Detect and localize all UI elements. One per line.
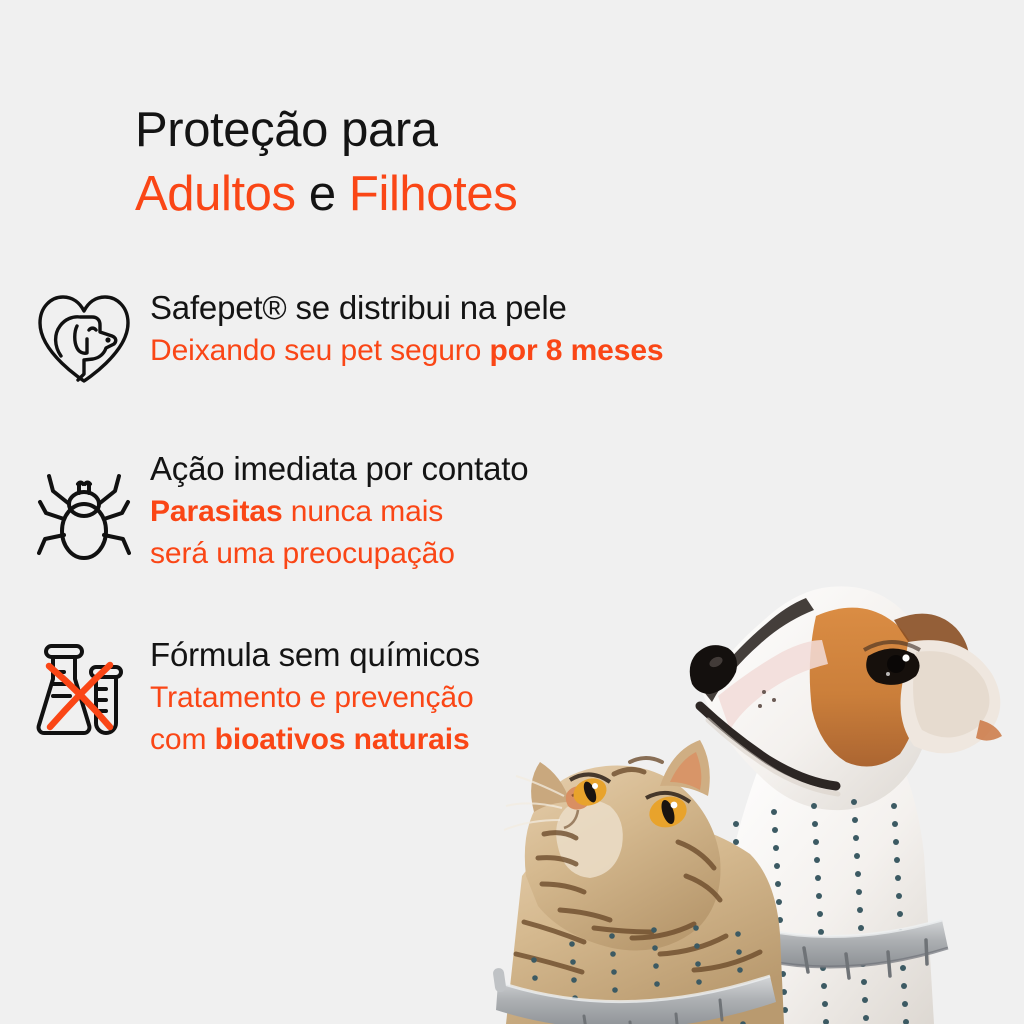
subtitle-bold: Parasitas <box>150 495 283 528</box>
page-title: Proteção para Adultos e Filhotes <box>135 98 517 226</box>
feature-item-no-chemicals: Fórmula sem químicos Tratamento e preven… <box>32 633 480 761</box>
subtitle-bold: bioativos naturais <box>215 723 470 756</box>
promo-banner: Proteção para Adultos e Filhotes Safepet… <box>0 0 1024 1024</box>
subtitle-normal: Deixando seu pet seguro <box>150 334 490 367</box>
subtitle-normal: com <box>150 723 215 756</box>
feature-text-block: Safepet® se distribui na pele Deixando s… <box>136 286 664 372</box>
feature-subtitle-line: com bioativos naturais <box>150 719 480 761</box>
feature-subtitle-line: Deixando seu pet seguro por 8 meses <box>150 330 664 372</box>
heading-conjunction: e <box>296 167 349 221</box>
heart-dog-icon <box>32 286 136 386</box>
feature-title: Safepet® se distribui na pele <box>150 286 664 330</box>
feature-title: Ação imediata por contato <box>150 447 528 491</box>
subtitle-bold: por 8 meses <box>490 334 664 367</box>
heading-line-2: Adultos e Filhotes <box>135 162 517 226</box>
pets-photo <box>464 524 1024 1024</box>
tick-bug-icon <box>32 447 136 567</box>
heading-line-1: Proteção para <box>135 98 517 162</box>
feature-title: Fórmula sem químicos <box>150 633 480 677</box>
feature-subtitle-line: Tratamento e prevenção <box>150 677 480 719</box>
feature-item-skin-distribution: Safepet® se distribui na pele Deixando s… <box>32 286 664 386</box>
feature-item-immediate-action: Ação imediata por contato Parasitas nunc… <box>32 447 528 575</box>
heading-filhotes: Filhotes <box>349 167 517 221</box>
subtitle-normal: nunca mais <box>283 495 444 528</box>
heading-adultos: Adultos <box>135 167 296 221</box>
no-chemicals-flask-icon <box>32 633 136 739</box>
tabby-cat <box>492 740 784 1024</box>
feature-text-block: Fórmula sem químicos Tratamento e preven… <box>136 633 480 761</box>
